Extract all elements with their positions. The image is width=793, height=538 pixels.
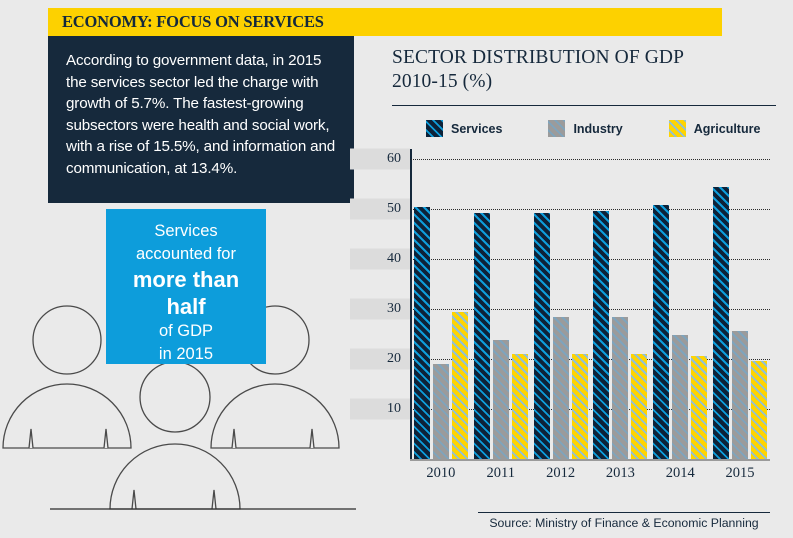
callout-line-2: accounted for [106,243,266,266]
bar-industry-2012[interactable] [553,317,569,459]
bar-agriculture-2010[interactable] [452,312,468,459]
bar-group-2012 [534,149,588,459]
callout-line-6: in 2015 [106,343,266,366]
bars-layer [411,149,770,459]
legend-item-services[interactable]: Services [426,120,502,137]
bar-industry-2014[interactable] [672,335,688,459]
legend-swatch-industry-icon [548,120,565,137]
intro-paragraph: According to government data, in 2015 th… [48,36,354,179]
bar-industry-2011[interactable] [493,340,509,460]
legend-label: Services [451,122,502,136]
source-note: Source: Ministry of Finance & Economic P… [478,516,770,530]
x-tick-label: 2013 [591,465,649,482]
bar-industry-2013[interactable] [612,317,628,459]
y-tick-label: 30 [354,301,406,317]
bar-agriculture-2014[interactable] [691,356,707,459]
page-title: ECONOMY: FOCUS ON SERVICES [48,12,324,32]
header-banner: ECONOMY: FOCUS ON SERVICES [48,8,722,36]
callout-box: Services accounted for more than half of… [106,209,266,364]
bar-group-2010 [414,149,468,459]
bar-services-2010[interactable] [414,207,430,459]
x-tick-label: 2010 [412,465,470,482]
legend-swatch-agriculture-icon [669,120,686,137]
chart-title-line-2: 2010-15 (%) [392,70,778,94]
bar-services-2011[interactable] [474,213,490,459]
plot-area: 102030405060 201020112012201320142015 [358,149,778,489]
bar-group-2013 [593,149,647,459]
callout-line-1: Services [106,220,266,243]
x-tick-label: 2015 [711,465,769,482]
legend-item-industry[interactable]: Industry [548,120,622,137]
callout-line-4: half [106,293,266,320]
x-tick-label: 2012 [532,465,590,482]
source-divider [478,512,770,513]
y-tick-label: 10 [354,401,406,417]
bar-services-2015[interactable] [713,187,729,460]
legend-item-agriculture[interactable]: Agriculture [669,120,761,137]
legend-label: Industry [573,122,622,136]
legend-swatch-services-icon [426,120,443,137]
x-tick-label: 2011 [472,465,530,482]
x-axis-line [410,459,770,461]
callout-line-3: more than [106,266,266,293]
bar-group-2014 [653,149,707,459]
infographic-root: ECONOMY: FOCUS ON SERVICES According to … [0,0,793,538]
x-tick-label: 2014 [651,465,709,482]
y-axis: 102030405060 [358,149,410,459]
bar-agriculture-2012[interactable] [572,354,588,459]
y-tick-label: 50 [354,201,406,217]
bar-group-2011 [474,149,528,459]
x-axis: 201020112012201320142015 [411,465,770,482]
y-tick-label: 40 [354,251,406,267]
bar-services-2014[interactable] [653,205,669,460]
bar-agriculture-2011[interactable] [512,354,528,459]
chart-title-line-1: SECTOR DISTRIBUTION OF GDP [392,46,778,70]
bar-industry-2015[interactable] [732,331,748,460]
bar-agriculture-2015[interactable] [751,361,767,460]
callout-line-5: of GDP [106,320,266,343]
intro-panel: According to government data, in 2015 th… [48,36,354,203]
chart-panel: SECTOR DISTRIBUTION OF GDP 2010-15 (%) S… [358,36,778,528]
y-tick-label: 60 [354,151,406,167]
bar-services-2012[interactable] [534,213,550,459]
chart-title: SECTOR DISTRIBUTION OF GDP 2010-15 (%) [358,36,778,94]
legend-label: Agriculture [694,122,761,136]
chart-legend: ServicesIndustryAgriculture [358,106,778,137]
bar-agriculture-2013[interactable] [631,354,647,459]
bar-services-2013[interactable] [593,211,609,459]
bar-industry-2010[interactable] [433,364,449,459]
y-tick-label: 20 [354,351,406,367]
bar-group-2015 [713,149,767,459]
